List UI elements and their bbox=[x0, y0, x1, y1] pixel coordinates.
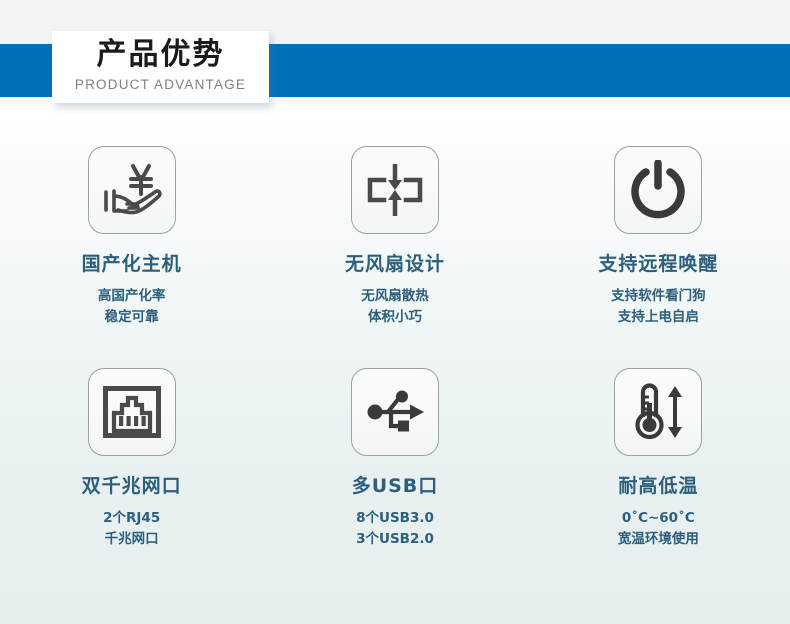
feature-card-remote-wake: 支持远程唤醒 支持软件看门狗 支持上电自启 bbox=[527, 128, 790, 350]
product-advantage-page: 产品优势 PRODUCT ADVANTAGE bbox=[0, 0, 790, 624]
feature-icon-tile bbox=[351, 368, 439, 456]
feature-grid: 国产化主机 高国产化率 稳定可靠 bbox=[0, 128, 790, 572]
page-subtitle: PRODUCT ADVANTAGE bbox=[75, 75, 246, 95]
power-button-icon bbox=[629, 160, 687, 220]
feature-card-fanless-design: 无风扇设计 无风扇散热 体积小巧 bbox=[263, 128, 526, 350]
thermometer-arrow-icon bbox=[628, 381, 688, 443]
feature-title: 国产化主机 bbox=[82, 252, 182, 276]
usb-trident-icon bbox=[364, 388, 426, 436]
rj45-network-port-icon bbox=[103, 386, 161, 438]
feature-icon-tile bbox=[351, 146, 439, 234]
feature-title: 双千兆网口 bbox=[82, 474, 182, 498]
feature-line: 支持上电自启 bbox=[611, 307, 706, 328]
feature-line: 体积小巧 bbox=[361, 307, 429, 328]
feature-title: 无风扇设计 bbox=[345, 252, 445, 276]
feature-description: 8个USB3.0 3个USB2.0 bbox=[356, 508, 434, 550]
hand-holding-yuan-icon bbox=[101, 160, 163, 220]
fanless-compress-arrows-icon bbox=[364, 161, 426, 219]
feature-description: 2个RJ45 千兆网口 bbox=[103, 508, 160, 550]
feature-line: 2个RJ45 bbox=[103, 508, 160, 529]
feature-line: 8个USB3.0 bbox=[356, 508, 434, 529]
feature-title: 耐高低温 bbox=[618, 474, 698, 498]
feature-card-multi-usb: 多USB口 8个USB3.0 3个USB2.0 bbox=[263, 350, 526, 572]
feature-card-domestic-host: 国产化主机 高国产化率 稳定可靠 bbox=[0, 128, 263, 350]
feature-icon-tile bbox=[614, 368, 702, 456]
feature-card-dual-gigabit-lan: 双千兆网口 2个RJ45 千兆网口 bbox=[0, 350, 263, 572]
feature-description: 无风扇散热 体积小巧 bbox=[361, 286, 429, 328]
feature-line: 宽温环境使用 bbox=[618, 529, 699, 550]
feature-icon-tile bbox=[614, 146, 702, 234]
feature-icon-tile bbox=[88, 146, 176, 234]
feature-title: 多USB口 bbox=[352, 474, 439, 498]
feature-line: 支持软件看门狗 bbox=[611, 286, 706, 307]
feature-line: 高国产化率 bbox=[98, 286, 166, 307]
feature-line: 无风扇散热 bbox=[361, 286, 429, 307]
feature-card-wide-temperature: 耐高低温 0˚C~60˚C 宽温环境使用 bbox=[527, 350, 790, 572]
feature-description: 0˚C~60˚C 宽温环境使用 bbox=[618, 508, 699, 550]
feature-title: 支持远程唤醒 bbox=[598, 252, 718, 276]
feature-description: 高国产化率 稳定可靠 bbox=[98, 286, 166, 328]
feature-description: 支持软件看门狗 支持上电自启 bbox=[611, 286, 706, 328]
header-title-card: 产品优势 PRODUCT ADVANTAGE bbox=[52, 31, 269, 103]
feature-icon-tile bbox=[88, 368, 176, 456]
page-title: 产品优势 bbox=[97, 35, 225, 75]
feature-line: 稳定可靠 bbox=[98, 307, 166, 328]
feature-line: 3个USB2.0 bbox=[356, 529, 434, 550]
feature-line: 0˚C~60˚C bbox=[618, 508, 699, 529]
feature-line: 千兆网口 bbox=[103, 529, 160, 550]
